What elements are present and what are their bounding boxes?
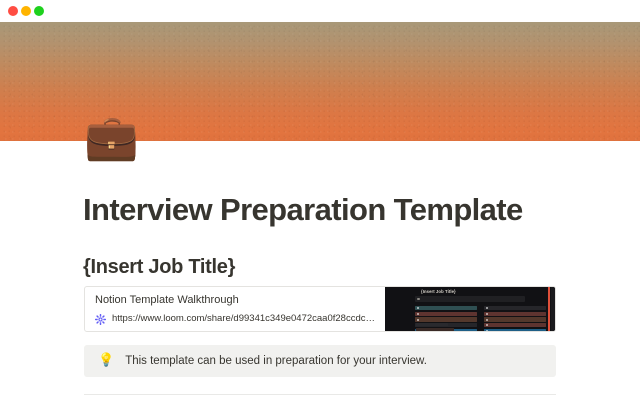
job-title-heading: {Insert Job Title} xyxy=(83,256,235,279)
minimize-button[interactable] xyxy=(21,6,31,16)
thumbnail-heading: {Insert Job Title} xyxy=(421,289,456,294)
thumbnail-callout xyxy=(415,296,525,302)
thumbnail-row xyxy=(484,329,546,331)
close-button[interactable] xyxy=(8,6,18,16)
bookmark-url[interactable]: https://www.loom.com/share/d99341c349e04… xyxy=(112,313,375,325)
content-divider xyxy=(84,394,556,395)
bookmark-info: Notion Template Walkthrough xyxy=(85,287,385,331)
bookmark-title: Notion Template Walkthrough xyxy=(95,293,375,307)
thumbnail-row xyxy=(415,306,477,310)
thumbnail-footer-line xyxy=(416,323,448,326)
callout-block[interactable]: 💡 This template can be used in preparati… xyxy=(84,345,556,377)
briefcase-emoji-icon[interactable]: 💼 xyxy=(84,114,139,162)
thumbnail-row xyxy=(484,306,546,310)
thumbnail-row xyxy=(415,317,477,321)
loom-favicon-icon xyxy=(95,314,106,325)
thumbnail-accent-bar xyxy=(548,287,550,331)
lightbulb-emoji-icon: 💡 xyxy=(98,353,114,369)
maximize-button[interactable] xyxy=(34,6,44,16)
loom-video-thumbnail[interactable]: {Insert Job Title} xyxy=(385,287,555,331)
thumbnail-row xyxy=(484,312,546,316)
thumbnail-row xyxy=(484,323,546,327)
bookmark-card[interactable]: Notion Template Walkthrough xyxy=(84,286,556,332)
window-titlebar xyxy=(0,0,640,22)
thumbnail-row xyxy=(415,312,477,316)
bookmark-url-row: https://www.loom.com/share/d99341c349e04… xyxy=(95,313,375,325)
callout-text: This template can be used in preparation… xyxy=(125,353,427,369)
page-content: 💼 Interview Preparation Template {Insert… xyxy=(0,141,640,400)
thumbnail-row xyxy=(484,317,546,321)
page-title: Interview Preparation Template xyxy=(83,192,523,228)
thumbnail-footer-line xyxy=(416,328,454,331)
thumbnail-column-right xyxy=(484,306,546,331)
thumbnail-edge xyxy=(551,287,555,331)
